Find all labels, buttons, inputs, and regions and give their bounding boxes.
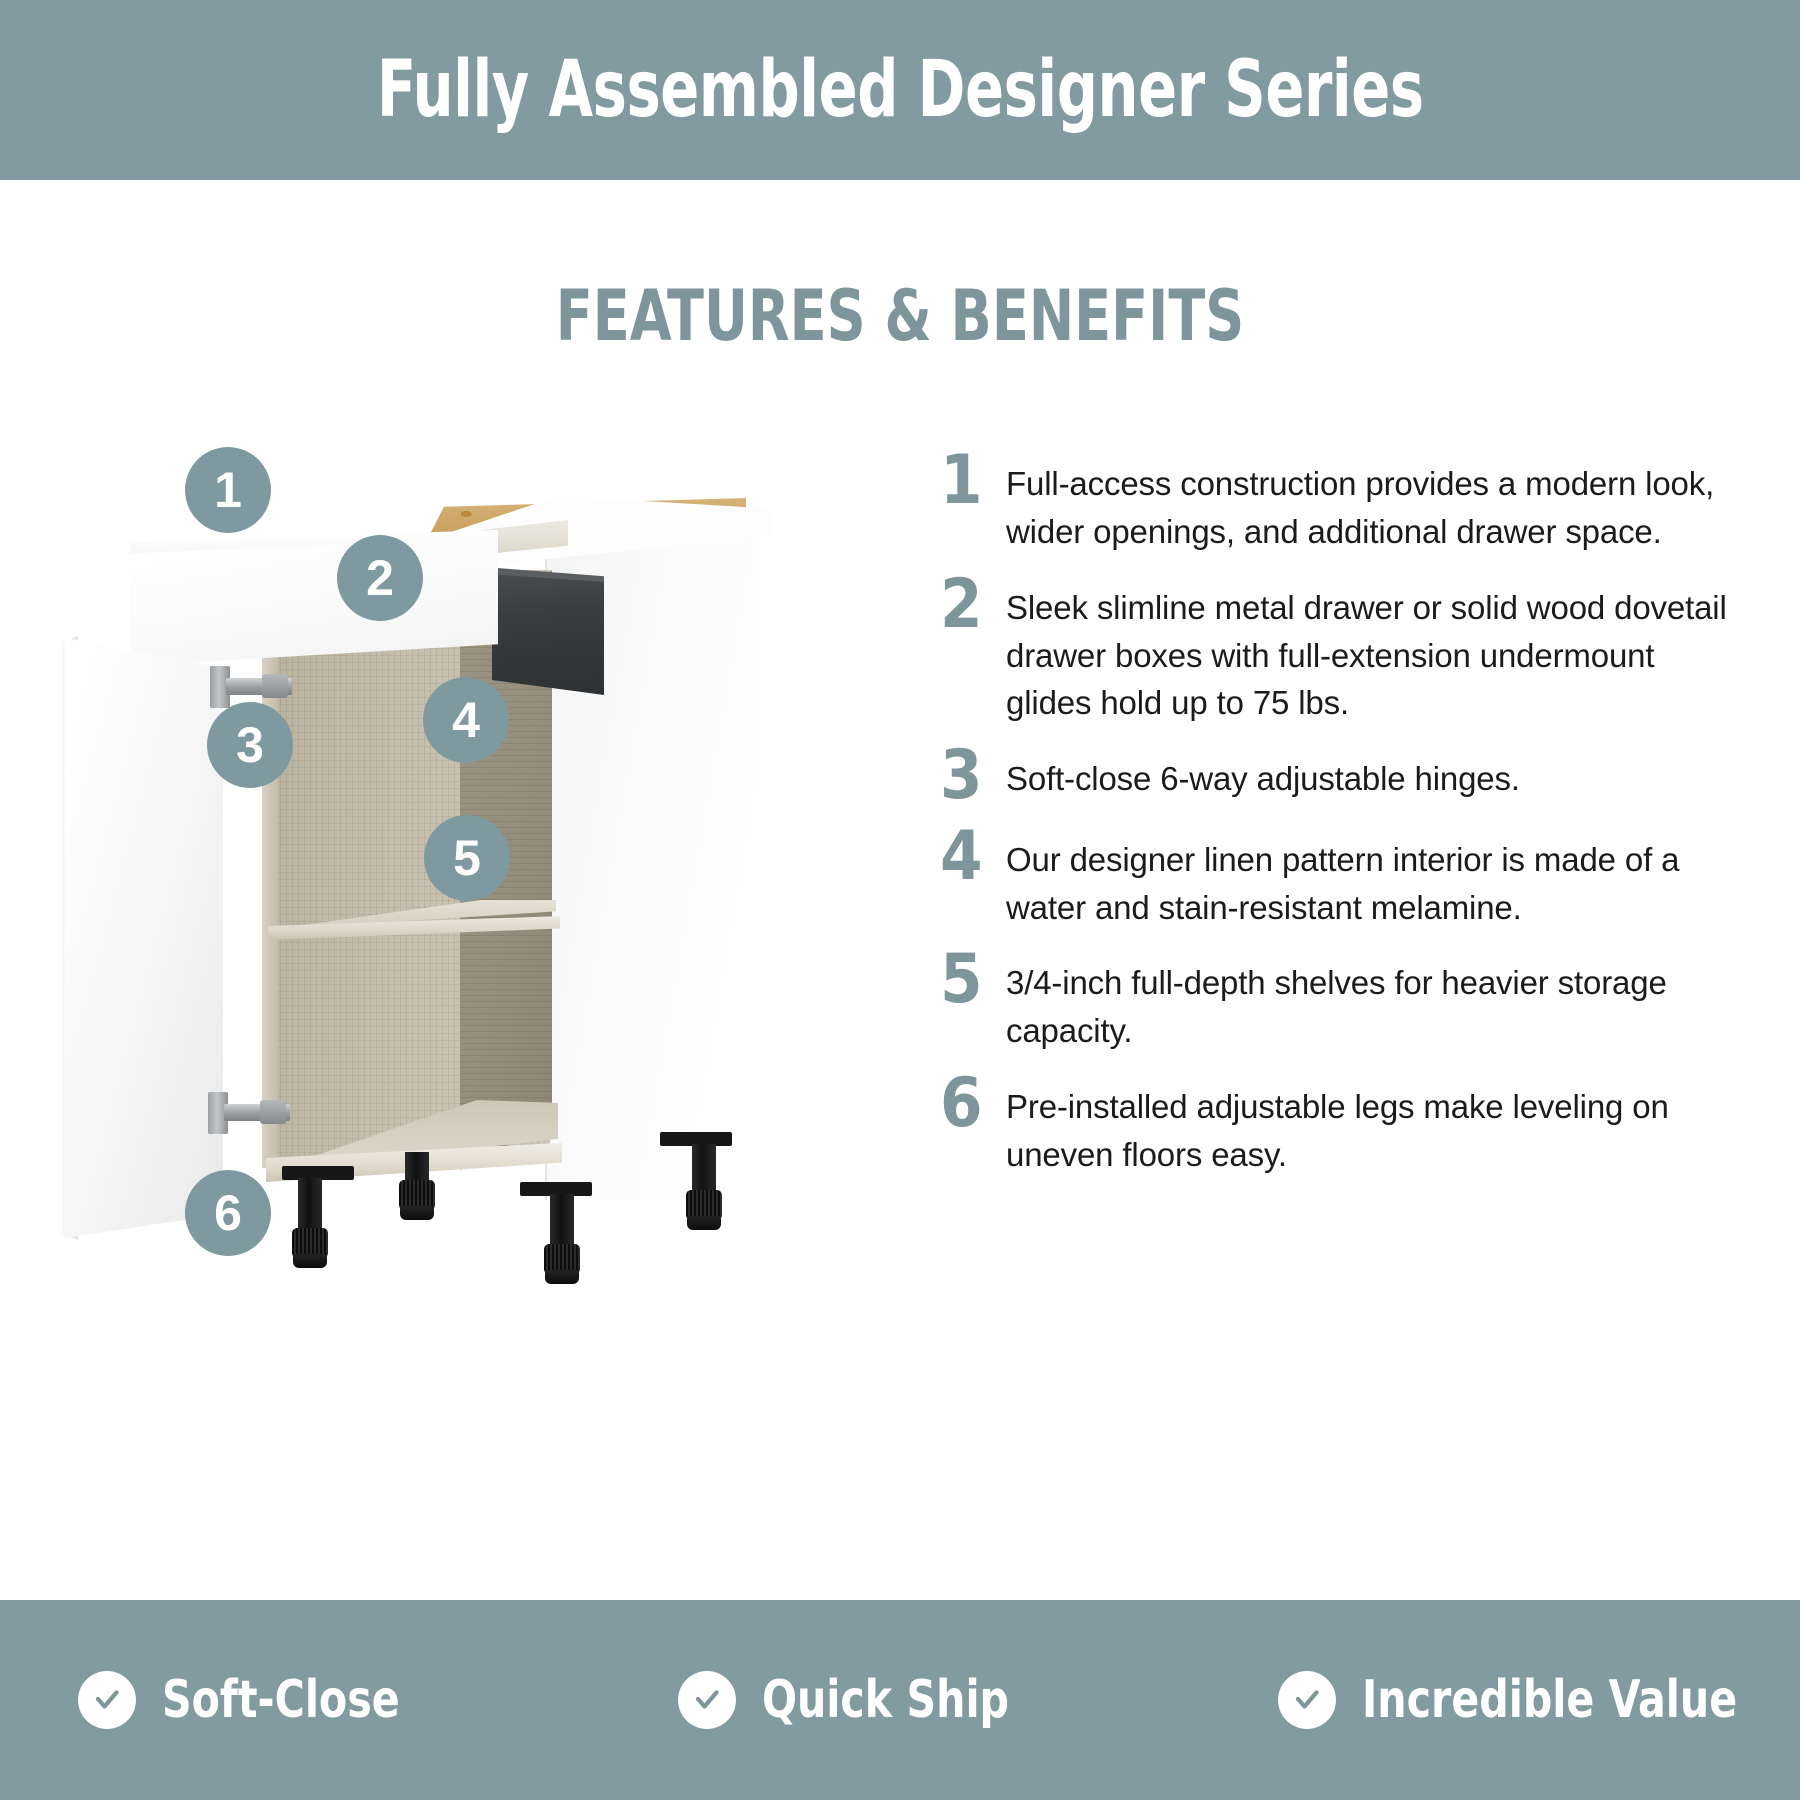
- hinge-cup: [260, 1100, 286, 1124]
- check-circle-icon: [1278, 1671, 1336, 1729]
- callout-badge-5[interactable]: 5: [424, 815, 510, 901]
- feature-description: Full-access construction provides a mode…: [1006, 450, 1730, 556]
- feature-number: 5: [940, 949, 1006, 1012]
- callout-badge-label: 3: [236, 720, 264, 770]
- feature-item: 5 3/4-inch full-depth shelves for heavie…: [940, 949, 1730, 1055]
- leg-post: [298, 1178, 322, 1232]
- cabinet-door-panel: [58, 638, 223, 1238]
- feature-description: Pre-installed adjustable legs make level…: [1006, 1073, 1730, 1179]
- feature-item: 3 Soft-close 6-way adjustable hinges.: [940, 745, 1730, 808]
- section-heading: FEATURES & BENEFITS: [126, 278, 1674, 355]
- main-content: 1 2 3 4 5 6 1 Full-access construction p…: [0, 400, 1800, 1600]
- feature-number: 3: [940, 745, 1006, 808]
- feature-description: Our designer linen pattern interior is m…: [1006, 826, 1730, 932]
- feature-description: Sleek slimline metal drawer or solid woo…: [1006, 574, 1730, 728]
- callout-badge-6[interactable]: 6: [185, 1170, 271, 1256]
- leg-foot: [545, 1270, 579, 1284]
- callout-badge-1[interactable]: 1: [185, 447, 271, 533]
- product-illustration: [40, 420, 920, 1480]
- features-list: 1 Full-access construction provides a mo…: [940, 450, 1730, 1197]
- footer-item-label: Incredible Value: [1362, 1674, 1737, 1726]
- feature-number: 1: [940, 450, 1006, 513]
- leg-post: [550, 1194, 574, 1248]
- leg-foot: [400, 1206, 434, 1220]
- drawer-front-panel: [130, 538, 498, 666]
- callout-badge-label: 2: [366, 553, 394, 603]
- feature-description: 3/4-inch full-depth shelves for heavier …: [1006, 949, 1730, 1055]
- footer-item-soft-close: Soft-Close: [0, 1671, 600, 1729]
- callout-badge-3[interactable]: 3: [207, 702, 293, 788]
- leg-foot: [293, 1254, 327, 1268]
- page-title: Fully Assembled Designer Series: [377, 51, 1424, 129]
- feature-number: 4: [940, 826, 1006, 889]
- callout-badge-label: 1: [214, 465, 242, 515]
- callout-badge-label: 4: [452, 695, 480, 745]
- footer-item-label: Soft-Close: [162, 1674, 400, 1726]
- check-circle-icon: [678, 1671, 736, 1729]
- footer-item-quick-ship: Quick Ship: [600, 1671, 1200, 1729]
- callout-badge-4[interactable]: 4: [423, 677, 509, 763]
- feature-number: 2: [940, 574, 1006, 637]
- footer-item-label: Quick Ship: [762, 1674, 1009, 1726]
- leg-foot: [687, 1216, 721, 1230]
- feature-item: 6 Pre-installed adjustable legs make lev…: [940, 1073, 1730, 1179]
- header-bar: Fully Assembled Designer Series: [0, 0, 1800, 180]
- feature-item: 2 Sleek slimline metal drawer or solid w…: [940, 574, 1730, 728]
- callout-badge-label: 5: [453, 833, 481, 883]
- footer-item-incredible-value: Incredible Value: [1200, 1671, 1800, 1729]
- feature-item: 4 Our designer linen pattern interior is…: [940, 826, 1730, 932]
- feature-description: Soft-close 6-way adjustable hinges.: [1006, 745, 1730, 803]
- metal-drawer-box: [492, 570, 604, 695]
- callout-badge-label: 6: [214, 1188, 242, 1238]
- check-circle-icon: [78, 1671, 136, 1729]
- hinge-cup: [262, 674, 288, 698]
- soft-close-hinge-bottom: [208, 1092, 292, 1134]
- feature-number: 6: [940, 1073, 1006, 1136]
- callout-badge-2[interactable]: 2: [337, 535, 423, 621]
- footer-bar: Soft-Close Quick Ship Incredible Value: [0, 1600, 1800, 1800]
- feature-item: 1 Full-access construction provides a mo…: [940, 450, 1730, 556]
